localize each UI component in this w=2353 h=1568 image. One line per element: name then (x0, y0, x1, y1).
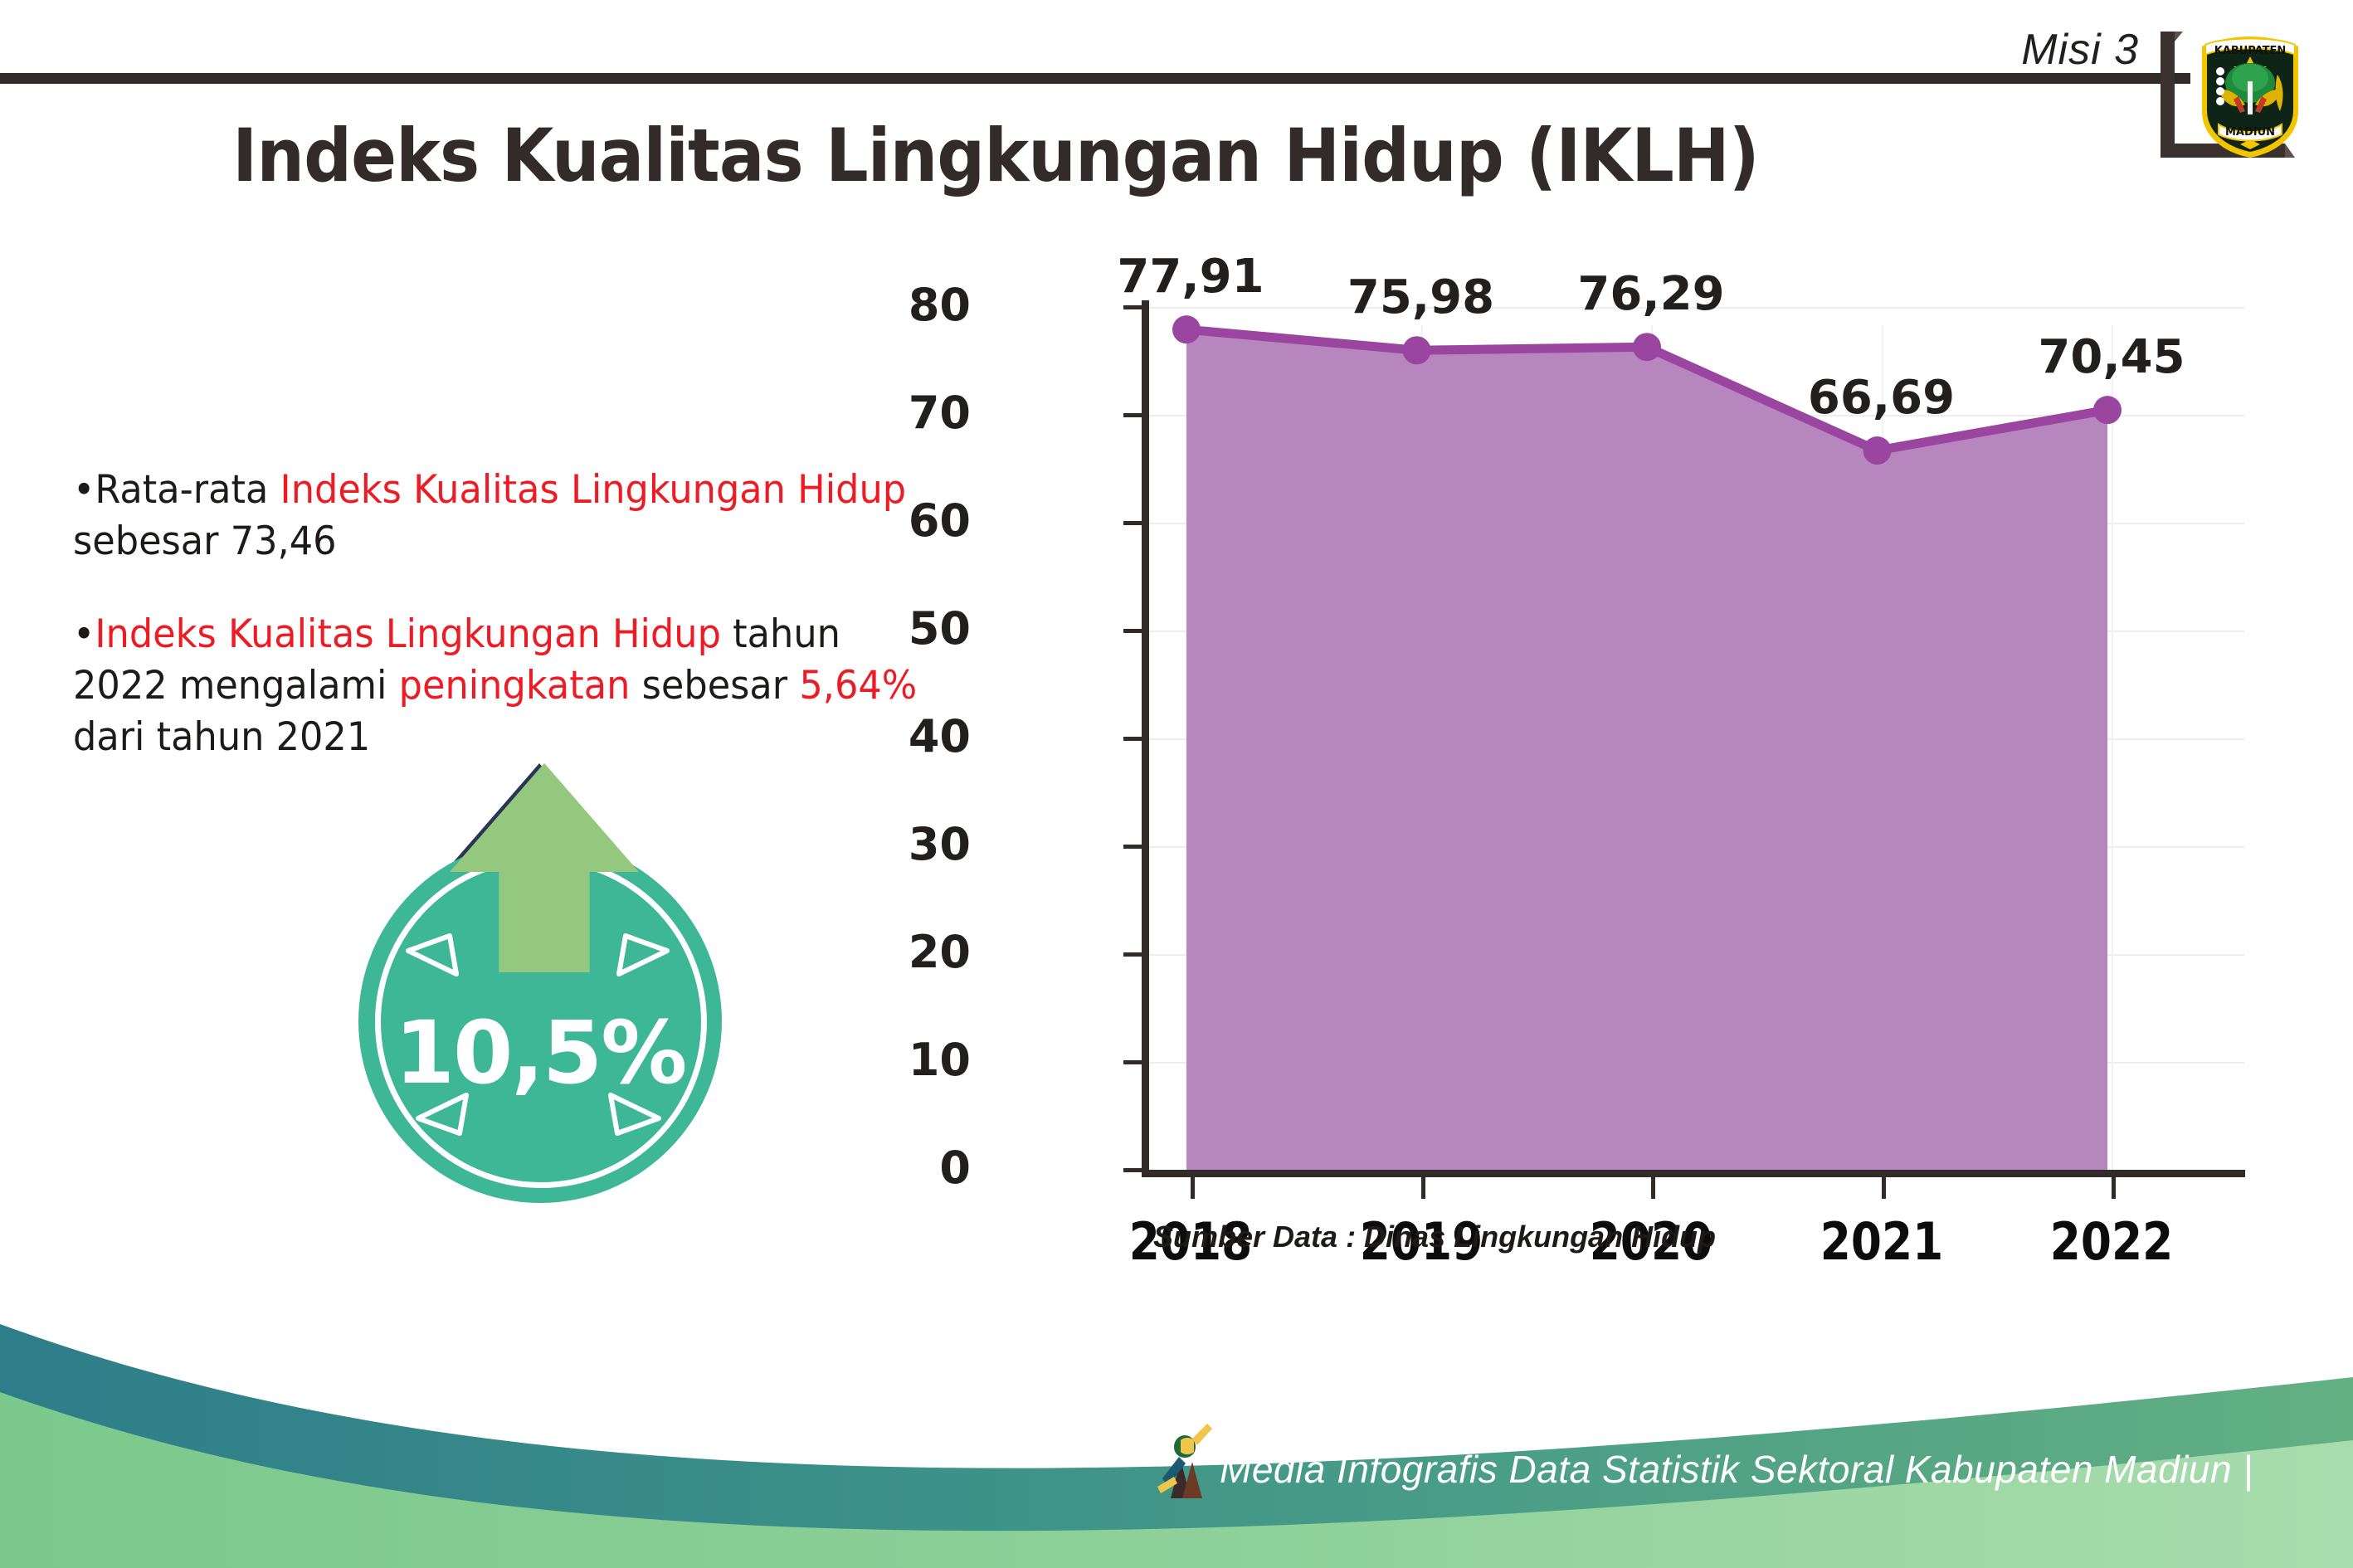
chart-x-tick-label: 2022 (2026, 1211, 2197, 1272)
bullet-marker: • (73, 467, 95, 513)
chart-data-label: 77,91 (1066, 250, 1315, 304)
chart-y-tick-label: 60 (909, 494, 971, 547)
chart-data-point-marker (1172, 315, 1201, 343)
page-title: Indeks Kualitas Lingkungan Hidup (IKLH) (80, 113, 1912, 198)
chart-x-tick (2112, 1177, 2116, 1199)
chart-y-tick (1123, 1168, 1143, 1172)
emblem-bottom-text: MADIUN (2225, 126, 2275, 139)
chart-y-tick-label: 50 (909, 602, 971, 655)
chart-data-point-marker (2093, 396, 2122, 424)
bullet-text-run-3: sebesar (630, 663, 799, 709)
bullet-1-rich: Rata-rata Indeks Kualitas Lingkungan Hid… (73, 467, 906, 564)
chart-y-tick-label: 80 (909, 279, 971, 331)
header-divider-rule (0, 73, 2190, 84)
chart-data-label: 66,69 (1757, 371, 2006, 425)
chart-y-tick-label: 10 (909, 1034, 971, 1086)
chart-y-axis-line (1142, 300, 1149, 1176)
kabupaten-madiun-emblem-icon: KABUPATEN MADIUN (2194, 32, 2307, 161)
chart-y-tick-label: 70 (909, 387, 971, 439)
chart-data-label: 70,45 (1987, 330, 2236, 384)
page-footer: Media Infografis Data Statistik Sektoral… (0, 1294, 2353, 1568)
chart-y-tick (1123, 737, 1143, 741)
chart-data-label: 76,29 (1527, 267, 1776, 321)
bullet-text-run-2: peningkatan (399, 663, 631, 709)
chart-data-label: 75,98 (1297, 270, 1546, 324)
chart-y-tick (1123, 413, 1143, 417)
bullet-item-2: •Indeks Kualitas Lingkungan Hidup tahun … (73, 609, 924, 763)
chart-y-tick (1123, 629, 1143, 633)
chart-source-note: Sumber Data : Dinas Lingkungan Hidup (1153, 1220, 1716, 1254)
dancer-logo-icon (1149, 1419, 1219, 1510)
chart-x-tick (1651, 1177, 1655, 1199)
chart-series-markers (1145, 307, 2240, 1170)
footer-caption: Media Infografis Data Statistik Sektoral… (1220, 1447, 2253, 1492)
chart-data-point-marker (1403, 336, 1431, 364)
chart-x-tick (1882, 1177, 1886, 1199)
emblem-top-text: KABUPATEN (2214, 45, 2287, 57)
chart-x-tick (1421, 1177, 1425, 1199)
bullet-2-rich: Indeks Kualitas Lingkungan Hidup tahun 2… (73, 611, 917, 760)
chart-y-tick (1123, 845, 1143, 849)
chart-x-tick-label: 2021 (1795, 1211, 1966, 1272)
badge-circle: 10,5% (358, 840, 722, 1203)
chart-data-point-marker (1633, 333, 1661, 361)
bullet-list: •Rata-rata Indeks Kualitas Lingkungan Hi… (73, 465, 969, 805)
chart-x-axis-line (1142, 1170, 2245, 1177)
chart-data-point-marker (1863, 436, 1892, 465)
bullet-text-run-4: 5,64% (799, 663, 917, 709)
increase-badge: 10,5% (332, 763, 747, 1211)
chart-y-tick-label: 40 (909, 710, 971, 762)
chart-y-tick (1123, 952, 1143, 957)
triangle-marker-top-left (405, 933, 463, 981)
bullet-text-run-2: sebesar 73,46 (73, 519, 337, 564)
badge-percent-value: 10,5% (358, 1002, 722, 1103)
bullet-text-run-5: dari tahun 2021 (73, 714, 370, 760)
misi-label: Misi 3 (2021, 25, 2139, 75)
bullet-marker: • (73, 611, 95, 657)
chart-y-tick (1123, 521, 1143, 525)
bullet-text-run-1: Indeks Kualitas Lingkungan Hidup (280, 467, 907, 513)
bullet-item-1: •Rata-rata Indeks Kualitas Lingkungan Hi… (73, 465, 924, 567)
triangle-marker-top-right (612, 933, 670, 981)
chart-y-tick-label: 30 (909, 818, 971, 870)
bullet-text-run-0: Indeks Kualitas Lingkungan Hidup (95, 611, 721, 657)
chart-y-tick-label: 20 (909, 926, 971, 978)
iklh-area-chart: 01020304050607080 20182019202020212022 7… (979, 282, 2307, 1278)
chart-x-tick (1191, 1177, 1195, 1199)
chart-y-tick (1123, 305, 1143, 309)
bullet-text-run-0: Rata-rata (95, 467, 280, 513)
chart-y-tick (1123, 1060, 1143, 1064)
chart-y-tick-label: 0 (939, 1142, 971, 1194)
